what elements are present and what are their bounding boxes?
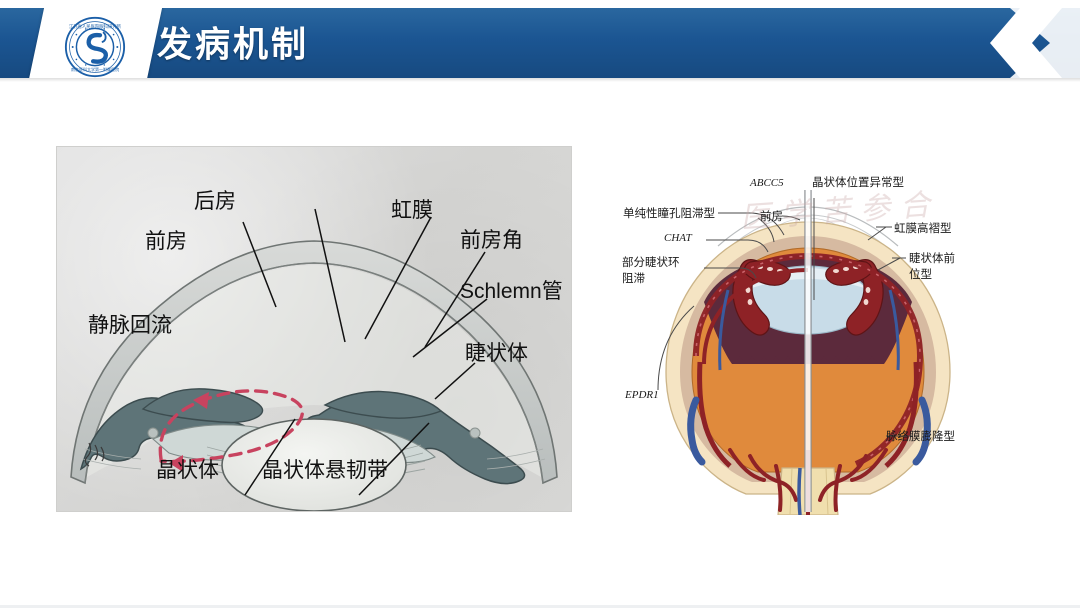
label-ciliary-anterior-1: 睫状体前 [909,250,955,266]
label-iris: 虹膜 [391,194,433,224]
banner-top-white-strip [0,0,1080,8]
label-schlemn-canal: Schlemn管 [460,275,563,305]
slide-title: 发病机制 [157,16,309,67]
label-pure-pupillary-block: 单纯性瞳孔阻滞型 [623,205,715,221]
slide-root: 江苏省人民医院眼科研究所 南京医科大学第一附属医院 发病机制 [0,0,1080,608]
label-partial-ciliary-block-2: 阻滞 [622,270,645,286]
label-iris-plateau: 虹膜高褶型 [894,220,952,236]
slide-header-banner: 江苏省人民医院眼科研究所 南京医科大学第一附属医院 发病机制 [0,8,1080,78]
emblem-icon: 江苏省人民医院眼科研究所 南京医科大学第一附属医院 [64,16,126,78]
label-lens: 晶状体 [156,454,219,484]
label-abcc5: ABCC5 [750,177,784,189]
label-anterior-chamber-angle: 前房角 [460,224,523,254]
label-ciliary-anterior-2: 位型 [909,266,932,282]
label-lens-malposition: 晶状体位置异常型 [812,174,904,190]
label-ciliary-body: 睫状体 [465,337,528,367]
hospital-logo: 江苏省人民医院眼科研究所 南京医科大学第一附属医院 [44,12,146,78]
label-chat: CHAT [664,232,692,244]
label-epdr1: EPDR1 [625,389,659,401]
banner-drop-shadow [0,78,1080,82]
emblem-ring-text-top: 江苏省人民医院眼科研究所 [69,23,122,30]
label-posterior-chamber: 后房 [194,185,236,215]
label-partial-ciliary-block-1: 部分睫状环 [622,254,680,270]
label-anterior-chamber-right: 前房 [760,208,783,224]
figure-anterior-segment: 后房 虹膜 前房 前房角 Schlemn管 睫状体 静脉回流 晶状体 晶状体悬韧… [57,147,571,511]
label-venous-return: 静脉回流 [88,309,172,339]
figure-angle-closure-mechanisms: 医学苦参合 ABCC5 晶状体位置异常型 单纯性瞳孔阻滞型 前房 虹膜高褶型 C… [600,150,1040,515]
label-anterior-chamber: 前房 [145,225,187,255]
emblem-ring-text-bottom: 南京医科大学第一附属医院 [71,66,119,72]
label-zonule: 晶状体悬韧带 [262,454,388,484]
label-choroidal-effusion: 脉络膜膨隆型 [886,428,955,444]
